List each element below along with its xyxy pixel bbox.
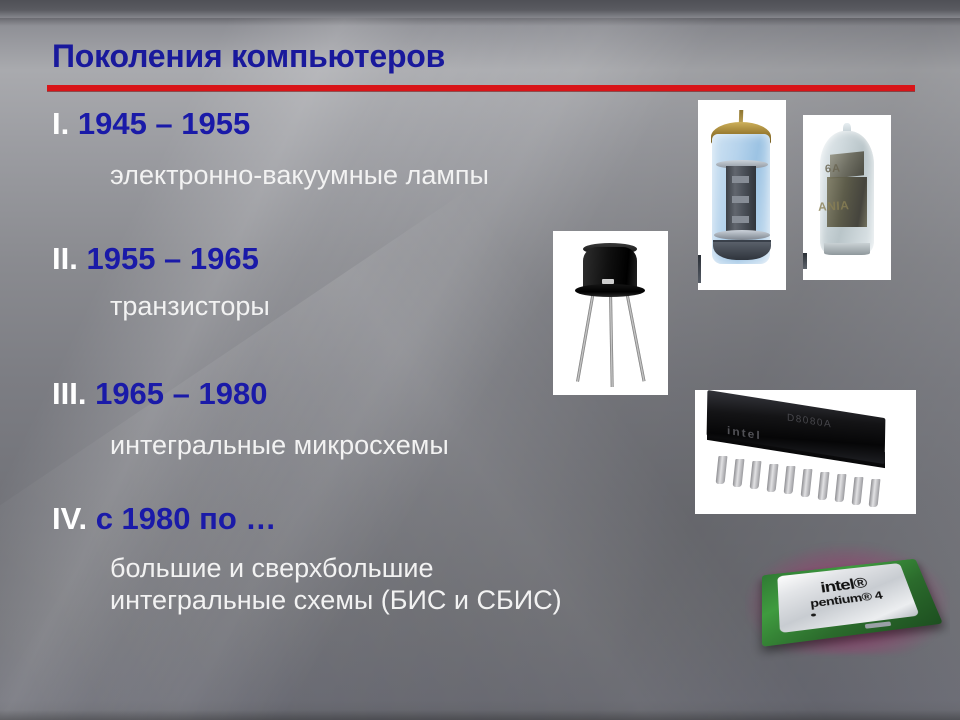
tube-2-label-bottom: ANIA [818,198,850,214]
generation-1-years: 1945 – 1955 [78,106,250,141]
vacuum-tube-2-art: 6A ANIA [803,115,891,280]
generation-4-description-block: большие и сверхбольшие интегральные схем… [52,552,562,618]
cpu-photo: intel® pentium® 4 [745,530,950,670]
tube-2-label-top: 6A [825,163,842,176]
generation-1-heading: I. 1945 – 1955 [52,108,489,141]
ic-pin [852,477,864,505]
generation-4-description-line-2: интегральные схемы (БИС и СБИС) [110,584,562,617]
ic-pin [767,464,779,492]
vacuum-tube-photo-1 [698,100,786,290]
ic-pin [784,466,796,494]
generation-3-heading: III. 1965 – 1980 [52,378,449,411]
transistor-lead [609,291,614,387]
transistor-flange [575,284,645,297]
ic-pin [835,474,847,502]
generation-3-years: 1965 – 1980 [95,376,267,411]
ic-pin [801,469,813,497]
background-top-band [0,0,960,18]
tube-2-base [824,243,870,255]
ic-pin [869,479,881,507]
generation-item-3: III. 1965 – 1980 интегральные микросхемы [52,378,449,461]
tube-1-pin [698,255,701,283]
ic-pin [733,459,745,487]
generation-2-numeral: II. [52,241,78,276]
tube-2-pin [803,253,807,269]
tube-1-electrode-stack [726,166,756,234]
generation-3-description: интегральные микросхемы [110,429,449,462]
generation-4-heading: IV. с 1980 по … [52,503,562,536]
generation-4-numeral: IV. [52,501,87,536]
transistor-photo [553,231,668,395]
cpu-art: intel® pentium® 4 [745,530,950,670]
ic-pin [750,461,762,489]
slide: Поколения компьютеров I. 1945 – 1955 эле… [0,0,960,720]
generation-2-heading: II. 1955 – 1965 [52,243,270,276]
integrated-circuit-art: intel D8080A [695,390,916,514]
transistor-index-tab [602,279,614,284]
page-title: Поколения компьютеров [52,38,445,75]
transistor-lead [576,291,595,382]
generation-2-years: 1955 – 1965 [86,241,258,276]
generation-4-description-line-1: большие и сверхбольшие [110,552,562,585]
generation-item-4: IV. с 1980 по … большие и сверхбольшие и… [52,503,562,617]
vacuum-tube-1-art [698,100,786,290]
ic-pin [716,456,728,484]
transistor-lead [625,291,645,382]
generation-1-description: электронно-вакуумные лампы [110,159,489,192]
integrated-circuit-photo: intel D8080A [695,390,916,514]
title-divider-rule [47,85,915,91]
generation-item-2: II. 1955 – 1965 транзисторы [52,243,270,322]
generation-1-numeral: I. [52,106,69,141]
background-bottom-band [0,710,960,720]
vacuum-tube-photo-2: 6A ANIA [803,115,891,280]
tube-1-lower-disc [714,230,770,240]
generation-4-years: с 1980 по … [96,501,277,536]
generation-item-1: I. 1945 – 1955 электронно-вакуумные ламп… [52,108,489,191]
generation-2-description: транзисторы [110,290,270,323]
generation-3-numeral: III. [52,376,86,411]
ic-pin [818,472,830,500]
transistor-art [553,231,668,395]
